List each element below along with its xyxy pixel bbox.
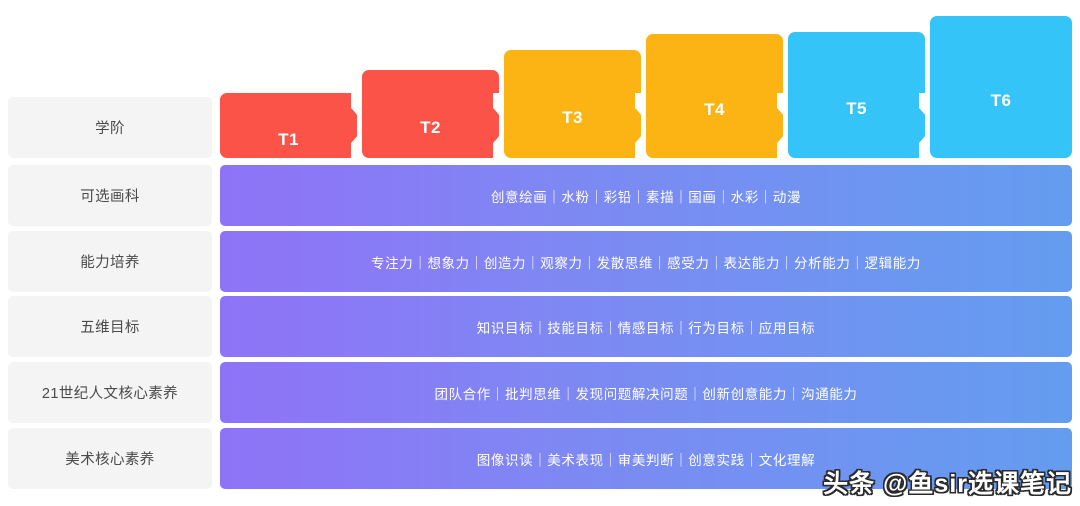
- row-label-xuejie: 学阶: [8, 97, 212, 158]
- stage-label-t4: T4: [704, 100, 725, 120]
- content-column: T1 T2 T3 T4 T5: [220, 0, 1072, 506]
- content-text-literacy21: 团队合作｜批判思维｜发现问题解决问题｜创新创意能力｜沟通能力: [435, 383, 858, 403]
- stage-block-t5[interactable]: T5: [788, 32, 925, 158]
- stage-label-t5: T5: [846, 99, 867, 119]
- row-label-meishuhexin: 美术核心素养: [8, 428, 212, 489]
- row-label-column: 学阶 可选画科 能力培养 五维目标 21世纪人文核心素养 美术核心素养: [8, 0, 212, 506]
- stage-block-t4[interactable]: T4: [646, 34, 783, 158]
- watermark: 头条 @鱼sir选课笔记: [823, 464, 1072, 500]
- content-text-art-core: 图像识读｜美术表现｜审美判断｜创意实践｜文化理解: [477, 449, 815, 469]
- row-label-nenglipeiyang: 能力培养: [8, 231, 212, 292]
- stage-label-t3: T3: [562, 108, 583, 128]
- stage-label-t1: T1: [278, 130, 299, 150]
- stage-block-t3[interactable]: T3: [504, 50, 641, 158]
- curriculum-stage-chart: 学阶 可选画科 能力培养 五维目标 21世纪人文核心素养 美术核心素养 T1 T…: [0, 0, 1080, 506]
- content-bar-abilities: 专注力｜想象力｜创造力｜观察力｜发散思维｜感受力｜表达能力｜分析能力｜逻辑能力: [220, 231, 1072, 292]
- row-label-wuweimubiao: 五维目标: [8, 296, 212, 357]
- content-bar-goals: 知识目标｜技能目标｜情感目标｜行为目标｜应用目标: [220, 296, 1072, 357]
- content-bar-literacy21: 团队合作｜批判思维｜发现问题解决问题｜创新创意能力｜沟通能力: [220, 362, 1072, 423]
- stage-block-t6[interactable]: T6: [930, 16, 1072, 158]
- content-bar-subjects: 创意绘画｜水粉｜彩铅｜素描｜国画｜水彩｜动漫: [220, 165, 1072, 226]
- content-text-subjects: 创意绘画｜水粉｜彩铅｜素描｜国画｜水彩｜动漫: [491, 186, 801, 206]
- stage-staircase: T1 T2 T3 T4 T5: [220, 0, 1072, 158]
- row-label-kexuanhuake: 可选画科: [8, 165, 212, 226]
- content-text-goals: 知识目标｜技能目标｜情感目标｜行为目标｜应用目标: [477, 317, 815, 337]
- stage-block-t2[interactable]: T2: [362, 70, 499, 158]
- row-label-renwenhexin: 21世纪人文核心素养: [8, 362, 212, 423]
- content-text-abilities: 专注力｜想象力｜创造力｜观察力｜发散思维｜感受力｜表达能力｜分析能力｜逻辑能力: [371, 252, 921, 272]
- stage-label-t6: T6: [991, 91, 1012, 111]
- stage-block-t1[interactable]: T1: [220, 93, 357, 158]
- stage-label-t2: T2: [420, 118, 441, 138]
